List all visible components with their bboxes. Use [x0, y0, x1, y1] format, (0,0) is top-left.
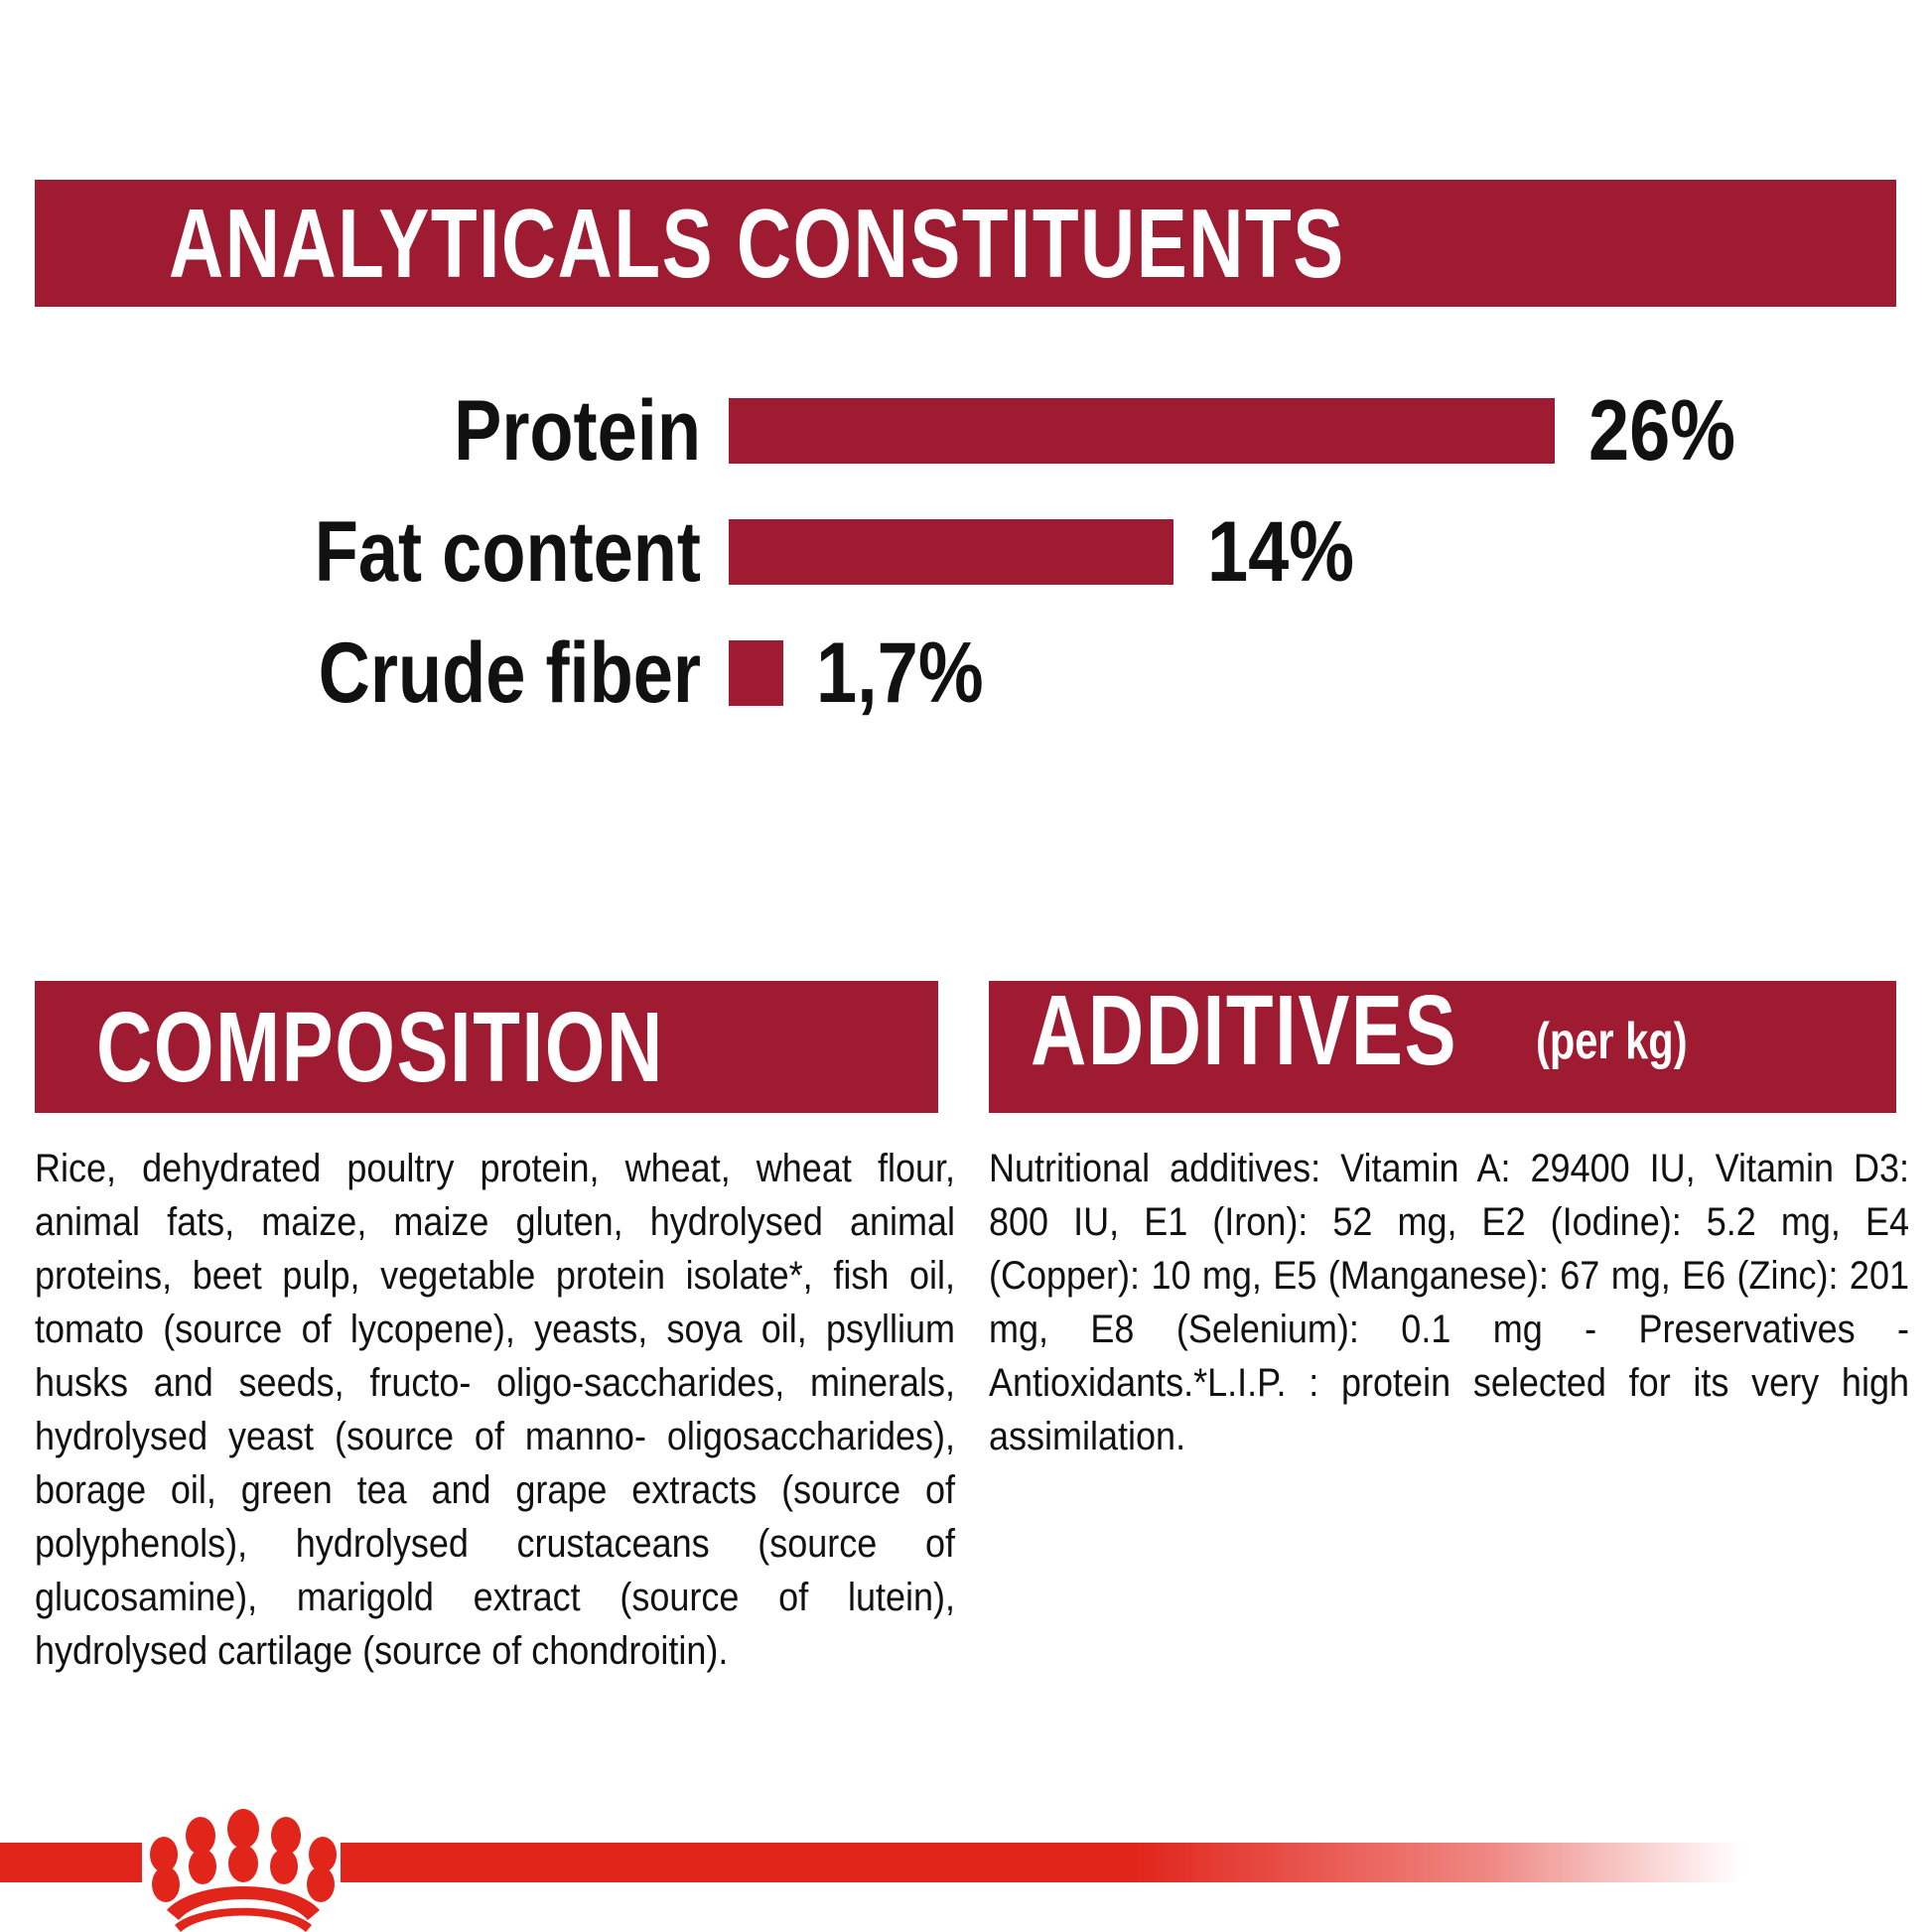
chart-value-fat-content: 14%: [1207, 509, 1354, 595]
composition-title: COMPOSITION: [96, 998, 664, 1097]
product-label-panel: ANALYTICALS CONSTITUENTS Protein 26% Fat…: [0, 0, 1932, 1932]
chart-row-crude-fiber: Crude fiber 1,7%: [0, 624, 1932, 722]
chart-row-protein: Protein 26%: [0, 382, 1932, 480]
chart-value-protein: 26%: [1588, 388, 1735, 474]
composition-header: COMPOSITION: [35, 981, 938, 1113]
analyticals-bar-chart: Protein 26% Fat content 14% Crude fiber …: [0, 382, 1932, 720]
footer-stripe-right: [341, 1843, 1932, 1882]
analyticals-constituents-header: ANALYTICALS CONSTITUENTS: [35, 180, 1896, 307]
analyticals-constituents-title: ANALYTICALS CONSTITUENTS: [169, 195, 1345, 292]
chart-bar-crude-fiber: [729, 640, 783, 706]
chart-bar-fat-content: [729, 519, 1173, 585]
chart-row-fat-content: Fat content 14%: [0, 503, 1932, 601]
chart-label-crude-fiber: Crude fiber: [68, 630, 701, 716]
footer: [0, 1807, 1932, 1932]
additives-header: ADDITIVES (per kg): [989, 981, 1896, 1113]
additives-body-text: Nutritional additives: Vitamin A: 29400 …: [989, 1142, 1909, 1463]
composition-body-text: Rice, dehydrated poultry protein, wheat,…: [35, 1142, 955, 1678]
chart-value-crude-fiber: 1,7%: [816, 630, 984, 716]
royal-canin-crown-logo: [139, 1807, 347, 1932]
chart-label-fat-content: Fat content: [68, 509, 701, 595]
chart-label-protein: Protein: [68, 388, 701, 474]
chart-bar-protein: [729, 398, 1555, 464]
additives-subtitle-per-kg: (per kg): [1536, 1016, 1688, 1067]
footer-stripe-left: [0, 1843, 142, 1882]
additives-title: ADDITIVES: [1031, 981, 1457, 1080]
